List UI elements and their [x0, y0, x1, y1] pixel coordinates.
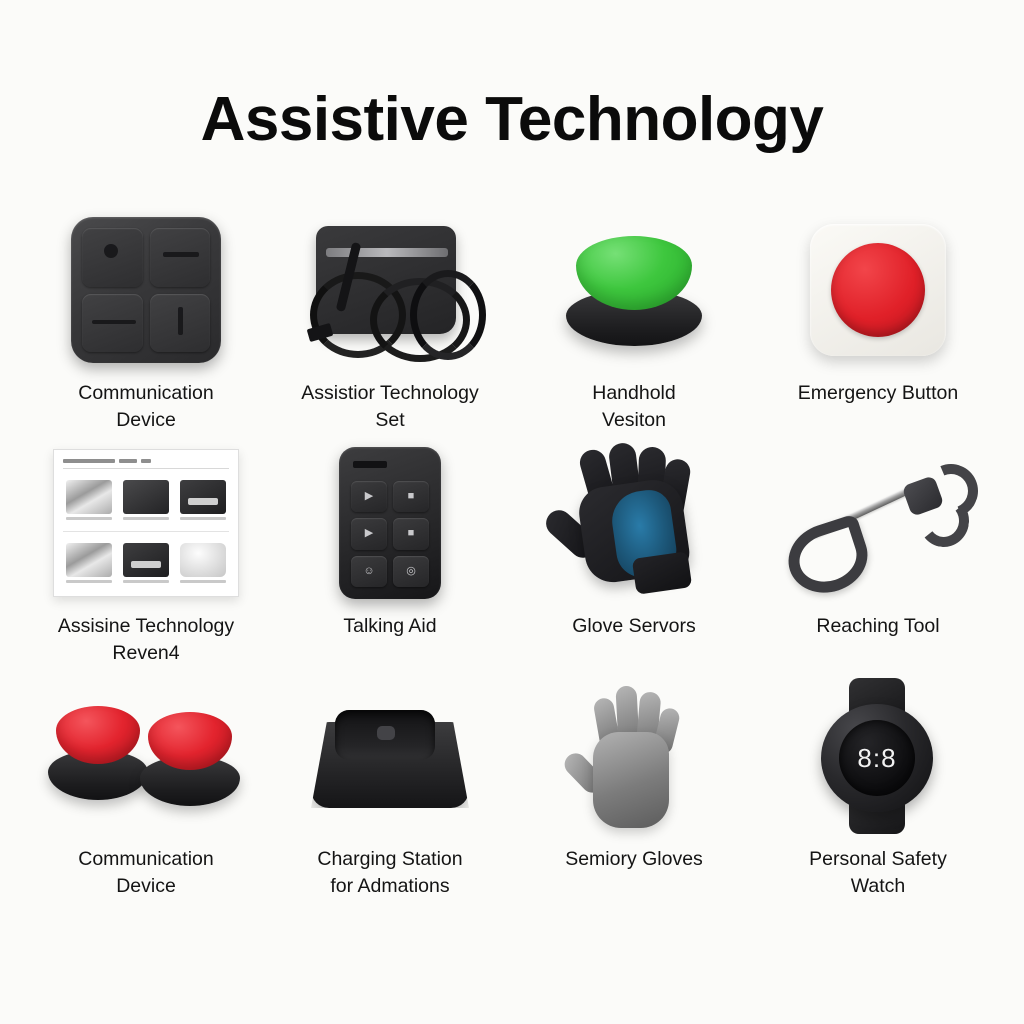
caption-line-1: Emergency Button — [798, 382, 958, 404]
hand-palm — [593, 732, 669, 828]
brochure-cell — [120, 474, 172, 526]
brochure-row — [63, 531, 229, 589]
pad-button-4 — [150, 294, 211, 353]
assistive-technology-catalog: Assistive Technology Communication Devic… — [0, 0, 1024, 1024]
item-caption: Charging Station for Admations — [285, 846, 495, 900]
item-caption: Assistior Technology Set — [285, 380, 495, 434]
brochure-cell — [63, 474, 115, 526]
caption-line-2: Device — [41, 873, 251, 900]
caption-line-2: Reven4 — [41, 640, 251, 667]
caption-line-1: Charging Station — [317, 848, 462, 870]
grey-hand-icon — [528, 672, 740, 840]
green-switch-button-icon — [528, 206, 740, 374]
caption-line-1: Assistior Technology — [301, 382, 478, 404]
reaching-tool-icon — [772, 439, 984, 607]
watch-face: 8:8 — [839, 720, 915, 796]
remote-key-stop-1: ■ — [393, 481, 429, 512]
grid-item-personal-safety-watch[interactable]: 8:8 Personal Safety Watch — [756, 672, 1000, 905]
caption-line-1: Glove Servors — [572, 615, 696, 637]
item-caption: Handhold Vesiton — [529, 380, 739, 434]
red-button-unit-1 — [46, 704, 150, 800]
caption-line-2: for Admations — [285, 873, 495, 900]
caption-line-1: Communication — [78, 848, 213, 870]
remote-key-record: ☺ — [351, 556, 387, 587]
caption-line-2: Device — [41, 407, 251, 434]
caption-line-1: Assisine Technology — [58, 615, 234, 637]
brochure-cell — [177, 537, 229, 589]
item-caption: Personal Safety Watch — [773, 846, 983, 900]
brochure-header — [63, 459, 229, 469]
twin-red-buttons-icon — [40, 672, 252, 840]
remote-brand-mark — [353, 461, 387, 468]
caption-line-1: Personal Safety — [809, 848, 947, 870]
caption-line-2: Set — [285, 407, 495, 434]
pad-button-1 — [82, 228, 143, 287]
caption-line-2: Vesiton — [529, 407, 739, 434]
remote-key-play-2: ▶ — [351, 518, 387, 549]
grid-item-assisine-technology-reven4[interactable]: Assisine Technology Reven4 — [24, 439, 268, 672]
remote-key-stop-2: ■ — [393, 518, 429, 549]
communication-device-icon — [40, 206, 252, 374]
pad-button-3 — [82, 294, 143, 353]
grid-item-communication-device-buttons[interactable]: Communication Device — [24, 672, 268, 905]
grid-item-talking-aid[interactable]: ▶ ■ ▶ ■ ☺ ◎ Talking Aid — [268, 439, 512, 672]
glove-icon — [528, 439, 740, 607]
brochure-row — [63, 474, 229, 526]
item-caption: Communication Device — [41, 846, 251, 900]
item-caption: Communication Device — [41, 380, 251, 434]
grid-item-assistior-technology-set[interactable]: Assistior Technology Set — [268, 206, 512, 439]
remote-key-power: ◎ — [393, 556, 429, 587]
grid-item-emergency-button[interactable]: Emergency Button — [756, 206, 1000, 439]
caption-line-1: Communication — [78, 382, 213, 404]
item-caption: Emergency Button — [773, 380, 983, 407]
cable-pouch-icon — [284, 206, 496, 374]
grid-item-communication-device-pad[interactable]: Communication Device — [24, 206, 268, 439]
page-title: Assistive Technology — [0, 84, 1024, 155]
emergency-red-dot — [831, 243, 925, 337]
brochure-cell — [63, 537, 115, 589]
grid-item-sensory-gloves[interactable]: Semiory Gloves — [512, 672, 756, 905]
caption-line-1: Reaching Tool — [816, 615, 939, 637]
grid-item-reaching-tool[interactable]: Reaching Tool — [756, 439, 1000, 672]
brochure-page-icon — [40, 439, 252, 607]
grid-item-handhold-vesiton[interactable]: Handhold Vesiton — [512, 206, 756, 439]
item-caption: Reaching Tool — [773, 613, 983, 640]
item-caption: Semiory Gloves — [529, 846, 739, 873]
remote-control-icon: ▶ ■ ▶ ■ ☺ ◎ — [284, 439, 496, 607]
cable-loop-3 — [410, 270, 486, 360]
item-caption: Glove Servors — [529, 613, 739, 640]
watch-time-display: 8:8 — [857, 743, 896, 774]
watch-case: 8:8 — [821, 704, 933, 812]
red-button-unit-2 — [138, 710, 242, 806]
smart-watch-icon: 8:8 — [772, 672, 984, 840]
remote-key-play-1: ▶ — [351, 481, 387, 512]
caption-line-2: Watch — [773, 873, 983, 900]
item-caption: Talking Aid — [285, 613, 495, 640]
brochure-cell — [177, 474, 229, 526]
tool-handle — [779, 513, 876, 602]
product-grid: Communication Device Assistior Technolog… — [24, 206, 1000, 905]
grid-item-charging-station[interactable]: Charging Station for Admations — [268, 672, 512, 905]
caption-line-1: Talking Aid — [343, 615, 436, 637]
brochure-cell — [120, 537, 172, 589]
pad-button-2 — [150, 228, 211, 287]
caption-line-1: Handhold — [592, 382, 675, 404]
glove-cuff — [631, 551, 691, 594]
item-caption: Assisine Technology Reven4 — [41, 613, 251, 667]
emergency-button-icon — [772, 206, 984, 374]
dock-connector — [377, 726, 395, 740]
pouch-zipper — [326, 248, 448, 257]
caption-line-1: Semiory Gloves — [565, 848, 703, 870]
grid-item-glove-servors[interactable]: Glove Servors — [512, 439, 756, 672]
charging-dock-icon — [284, 672, 496, 840]
